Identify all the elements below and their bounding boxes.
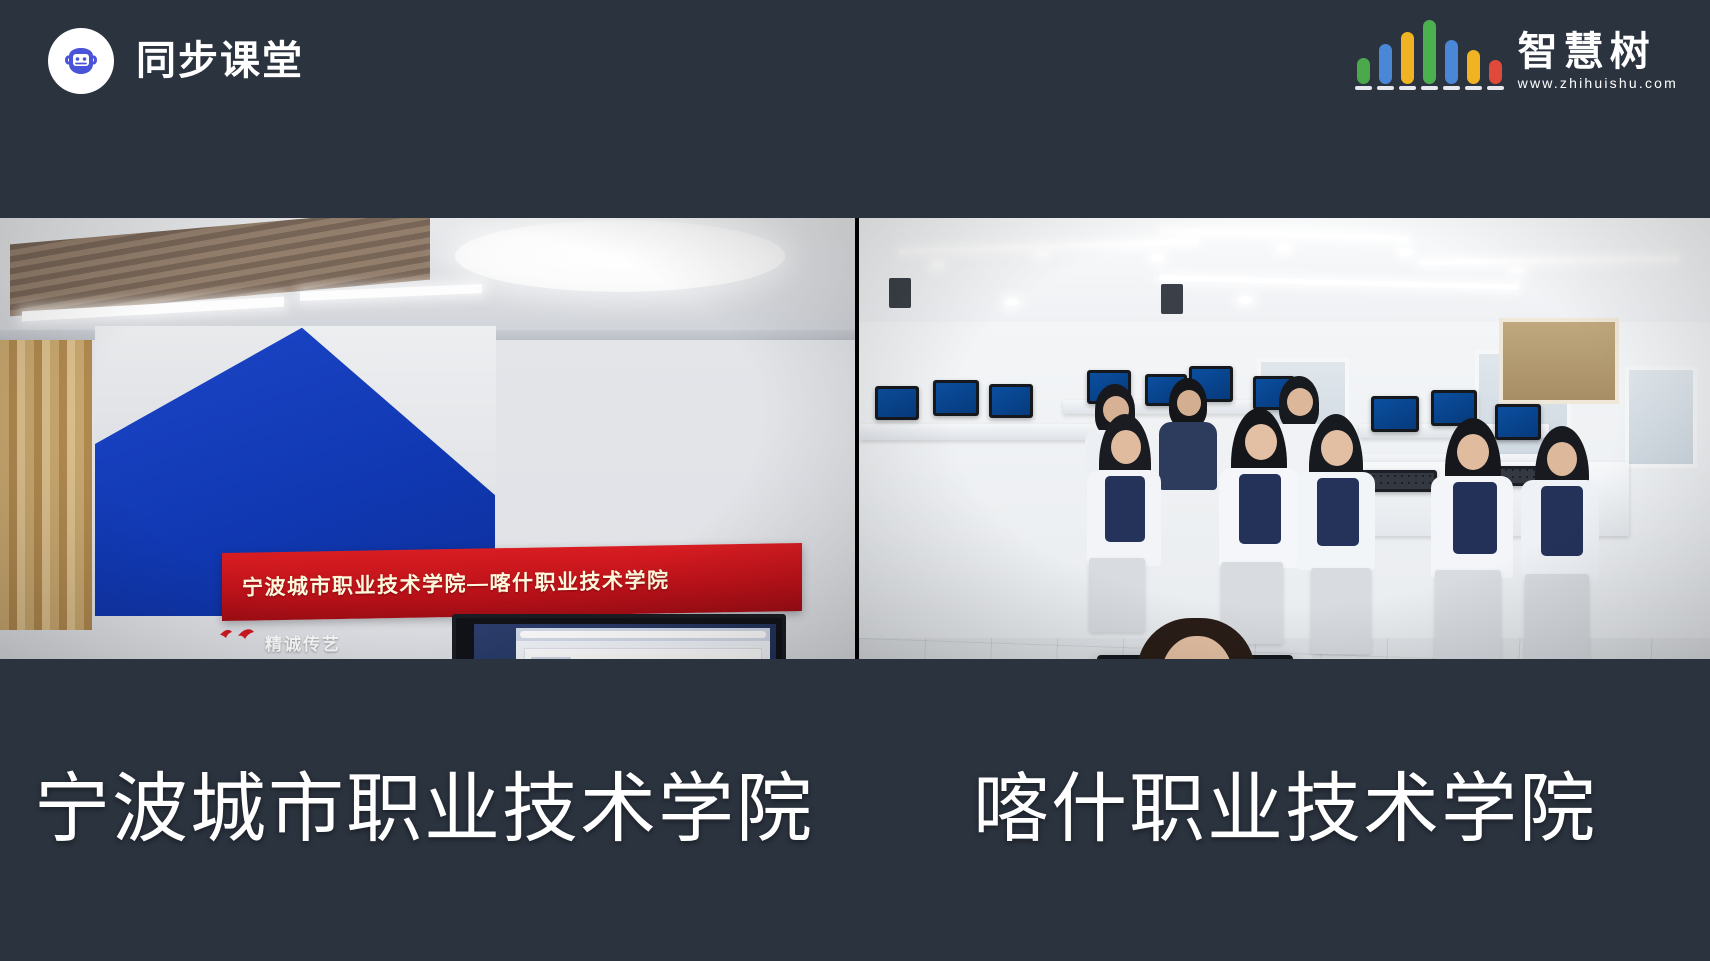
lab-monitor [1495,404,1541,440]
student-audience [0,218,855,659]
lab-desk [859,424,1119,440]
zhihuishu-wordmark: 智慧树 www.zhihuishu.com [1518,31,1678,92]
wall-panel [1499,318,1619,404]
wall-window [1625,366,1697,468]
lab-stool [1089,558,1145,632]
lab-monitor [1371,396,1419,432]
caption-right-cell: 喀什职业技术学院 [855,659,1710,961]
lab-stool [1435,570,1501,659]
brand-title: 同步课堂 [136,41,304,81]
page-header: 同步课堂 智慧树 www.zhihuishu.com [0,0,1710,218]
caption-bar: 宁波城市职业技术学院 喀什职业技术学院 [0,659,1710,961]
zhihuishu-logo: 智慧树 www.zhihuishu.com [1355,28,1678,92]
brand-block: 同步课堂 [48,28,304,94]
zhihuishu-url: www.zhihuishu.com [1518,76,1678,90]
wall-speaker [1161,284,1183,314]
caption-school-right: 喀什职业技术学院 [973,772,1597,848]
lab-stool [1311,568,1371,654]
wall-speaker [889,278,911,308]
lab-stool [1525,574,1589,659]
video-feed-left[interactable]: 精诚传艺 成就梦想 宁波城市职业技术学院—喀什职业技术学院 [0,218,855,659]
owl-avatar-icon [48,28,114,94]
colored-bars-logo-icon [1355,28,1504,92]
caption-school-left: 宁波城市职业技术学院 [34,772,814,848]
lab-monitor [875,386,919,420]
caption-left-cell: 宁波城市职业技术学院 [0,659,855,961]
zhihuishu-name: 智慧树 [1518,31,1656,73]
lab-monitor [933,380,979,416]
app-root: 同步课堂 智慧树 www.zhihuishu.com [0,0,1710,961]
video-feed-right[interactable] [859,218,1710,659]
video-stage: 精诚传艺 成就梦想 宁波城市职业技术学院—喀什职业技术学院 [0,218,1710,659]
lab-monitor [989,384,1033,418]
